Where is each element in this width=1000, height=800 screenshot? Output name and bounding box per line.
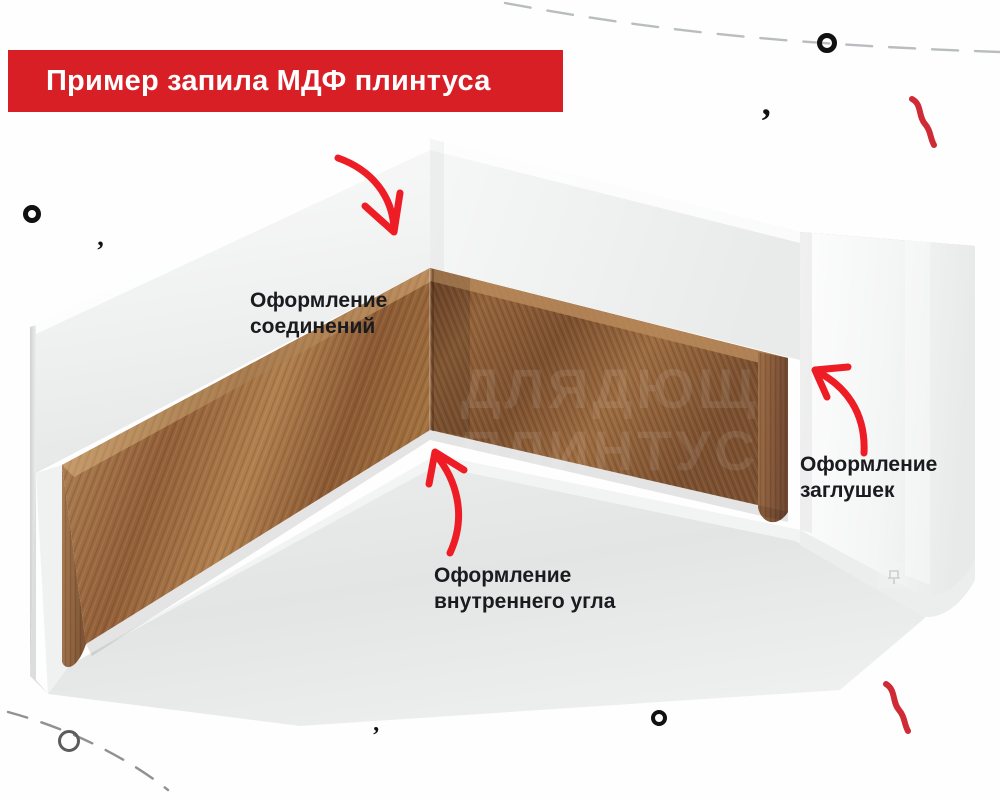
svg-text:ДЛЯДЮЩ: ДЛЯДЮЩ [461, 357, 759, 420]
brand-watermark: ДЛЯДЮЩ ПЛИНТУС [461, 357, 759, 482]
svg-text:ПЛИНТУС: ПЛИНТУС [461, 419, 759, 482]
end-cap-panel [800, 232, 975, 617]
annotation-label-joints: Оформление соединений [250, 288, 387, 339]
annotation-label-corner: Оформление внутреннего угла [434, 563, 615, 614]
panel-marker [878, 562, 908, 588]
plinth-corner-illustration: ДЛЯДЮЩ ПЛИНТУС [0, 0, 1000, 800]
banner-title: Пример запила МДФ плинтуса [46, 65, 491, 98]
title-banner: Пример запила МДФ плинтуса [8, 50, 563, 112]
annotation-label-caps: Оформление заглушек [800, 452, 937, 503]
poster-canvas: ’ ’ ’ [0, 0, 1000, 800]
